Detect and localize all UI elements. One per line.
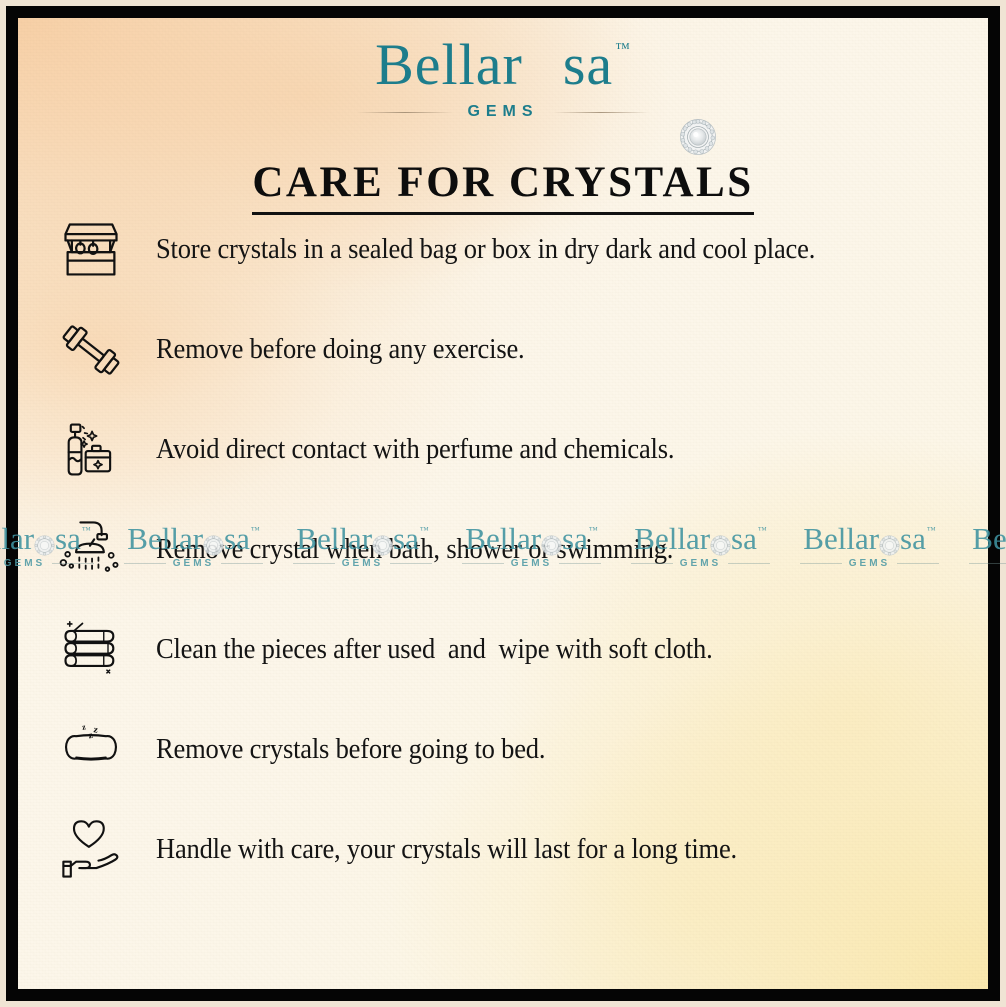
- watermark-rule-left: [969, 563, 1006, 564]
- list-item-label: Remove crystal when bath, shower or swim…: [156, 534, 673, 566]
- hand-heart-icon: [48, 813, 134, 887]
- watermark-subtitle: GEMS: [4, 558, 45, 569]
- list-item: z z z Remove crystals before going to be…: [48, 700, 966, 800]
- list-item: Handle with care, your crystals will las…: [48, 800, 966, 900]
- folded-towels-icon: [48, 613, 134, 687]
- brand-name-part2: sa: [563, 36, 613, 94]
- list-item: Clean the pieces after used and wipe wit…: [48, 600, 966, 700]
- brand-subtitle-row: GEMS: [0, 103, 1006, 121]
- list-item-label: Remove crystals before going to bed.: [156, 734, 545, 766]
- dumbbell-icon: [48, 313, 134, 387]
- poster-canvas: Bellar: [0, 0, 1006, 1007]
- tips-list: Store crystals in a sealed bag or box in…: [48, 200, 966, 900]
- watermark-name-part1: Bellar: [0, 523, 34, 554]
- gem-diamond-icon: [524, 50, 562, 88]
- jewelry-box-icon: [48, 213, 134, 287]
- list-item: Store crystals in a sealed bag or box in…: [48, 200, 966, 300]
- watermark-name-part1: Bellar: [972, 523, 1006, 554]
- svg-text:z: z: [81, 721, 87, 732]
- watermark-wordmark: Bellar sa™: [972, 523, 1006, 554]
- list-item-label: Remove before doing any exercise.: [156, 334, 524, 366]
- shower-head-icon: [48, 513, 134, 587]
- list-item-label: Clean the pieces after used and wipe wit…: [156, 634, 713, 666]
- brand-name-part1: Bellar: [375, 36, 523, 94]
- list-item: Remove crystal when bath, shower or swim…: [48, 500, 966, 600]
- list-item: Avoid direct contact with perfume and ch…: [48, 400, 966, 500]
- svg-text:z: z: [93, 724, 100, 736]
- brand-rule-left: [357, 112, 453, 113]
- list-item-label: Store crystals in a sealed bag or box in…: [156, 234, 815, 266]
- trademark-symbol: ™: [615, 42, 631, 57]
- perfume-bottle-icon: [48, 413, 134, 487]
- list-item: Remove before doing any exercise.: [48, 300, 966, 400]
- poster-content: Bellar: [0, 0, 1006, 1007]
- brand-logo: Bellar: [0, 36, 1006, 121]
- list-item-label: Avoid direct contact with perfume and ch…: [156, 434, 674, 466]
- list-item-label: Handle with care, your crystals will las…: [156, 834, 737, 866]
- brand-wordmark: Bellar: [375, 36, 631, 94]
- sleeping-pillow-icon: z z z: [48, 713, 134, 787]
